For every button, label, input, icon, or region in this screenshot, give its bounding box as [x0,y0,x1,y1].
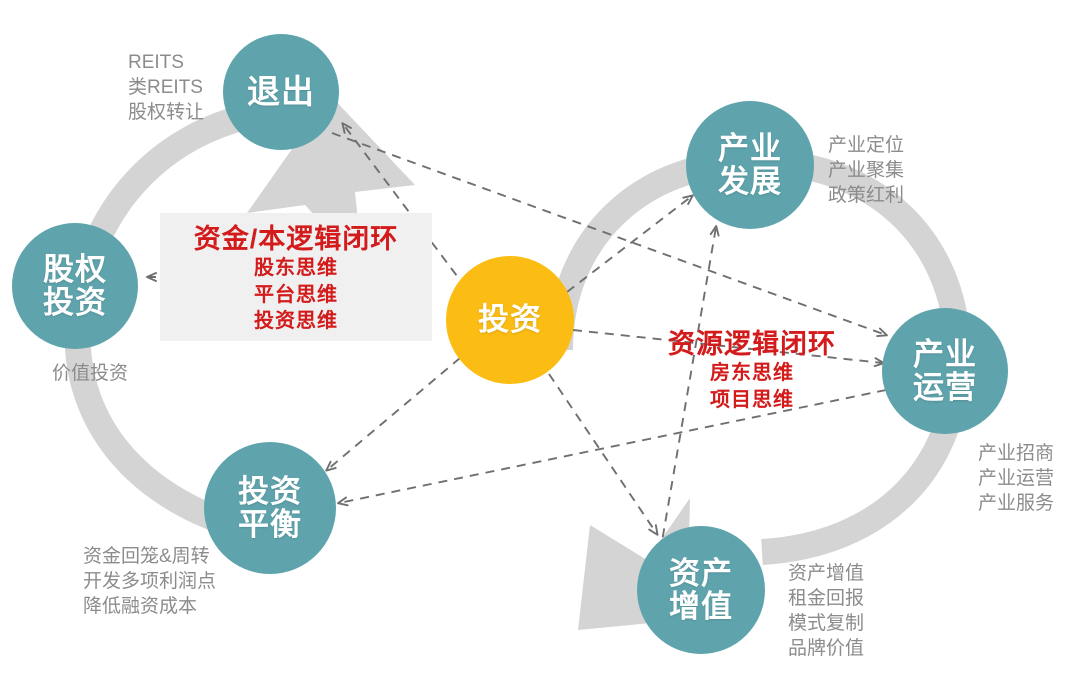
node-industry-operation-label-2: 运营 [913,371,977,404]
investment-balance-caption: 资金回笼&周转 开发多项利润点 降低融资成本 [83,544,216,619]
node-asset-appreciation-label-1: 资产 [669,557,733,590]
node-industry-development-label-1: 产业 [718,132,782,165]
capital-logic-loop-item-2: 平台思维 [174,282,418,308]
investment-to-asset-appreciation-line [549,374,657,534]
resource-logic-loop-panel: 资源逻辑闭环 房东思维 项目思维 [648,318,856,418]
node-equity-investment[interactable]: 股权 投资 [12,223,138,349]
exit-caption: REITS 类REITS 股权转让 [128,50,204,125]
capital-logic-loop-item-1: 股东思维 [174,255,418,281]
industry-development-caption: 产业定位 产业聚集 政策红利 [828,133,904,208]
exit-caption-line-3: 股权转让 [128,100,204,125]
asset-appreciation-caption-line-3: 模式复制 [788,611,864,636]
node-investment-balance-label-1: 投资 [238,475,302,508]
diagram-canvas: 投资 退出 股权 投资 投资 平衡 产业 发展 产业 运营 资产 增值 REIT… [0,0,1080,691]
asset-appreciation-caption-line-4: 品牌价值 [788,636,864,661]
exit-caption-line-1: REITS [128,50,204,75]
node-exit-label-1: 退出 [247,74,315,110]
node-investment-label: 投资 [478,303,542,336]
investment-balance-caption-line-3: 降低融资成本 [83,594,216,619]
equity-investment-caption-line-1: 价值投资 [52,361,128,386]
resource-logic-loop-item-2: 项目思维 [662,387,842,413]
investment-to-investment-balance-line [327,358,460,470]
asset-appreciation-caption: 资产增值 租金回报 模式复制 品牌价值 [788,561,864,661]
industry-operation-caption: 产业招商 产业运营 产业服务 [978,441,1054,516]
equity-investment-caption: 价值投资 [52,361,128,386]
node-investment-balance-label-2: 平衡 [238,508,302,541]
capital-logic-loop-item-3: 投资思维 [174,308,418,334]
node-industry-development[interactable]: 产业 发展 [686,101,814,229]
industry-operation-caption-line-3: 产业服务 [978,491,1054,516]
industry-development-caption-line-2: 产业聚集 [828,158,904,183]
investment-balance-caption-line-1: 资金回笼&周转 [83,544,216,569]
exit-caption-line-2: 类REITS [128,75,204,100]
node-industry-operation[interactable]: 产业 运营 [882,308,1008,434]
industry-operation-caption-line-2: 产业运营 [978,466,1054,491]
node-investment-balance[interactable]: 投资 平衡 [204,442,336,574]
asset-appreciation-caption-line-2: 租金回报 [788,586,864,611]
resource-logic-loop-item-1: 房东思维 [662,360,842,386]
industry-operation-caption-line-1: 产业招商 [978,441,1054,466]
resource-logic-loop-title: 资源逻辑闭环 [662,328,842,360]
node-asset-appreciation[interactable]: 资产 增值 [637,526,765,654]
investment-balance-caption-line-2: 开发多项利润点 [83,569,216,594]
capital-logic-loop-panel: 资金/本逻辑闭环 股东思维 平台思维 投资思维 [160,213,432,341]
node-industry-development-label-2: 发展 [718,165,782,198]
node-investment[interactable]: 投资 [446,256,574,384]
node-industry-operation-label-1: 产业 [913,338,977,371]
node-exit[interactable]: 退出 [223,34,339,150]
industry-development-caption-line-1: 产业定位 [828,133,904,158]
node-equity-investment-label-2: 投资 [43,286,107,319]
capital-logic-loop-title: 资金/本逻辑闭环 [174,223,418,255]
node-equity-investment-label-1: 股权 [43,253,107,286]
asset-appreciation-caption-line-1: 资产增值 [788,561,864,586]
node-asset-appreciation-label-2: 增值 [669,590,733,623]
industry-development-caption-line-3: 政策红利 [828,183,904,208]
